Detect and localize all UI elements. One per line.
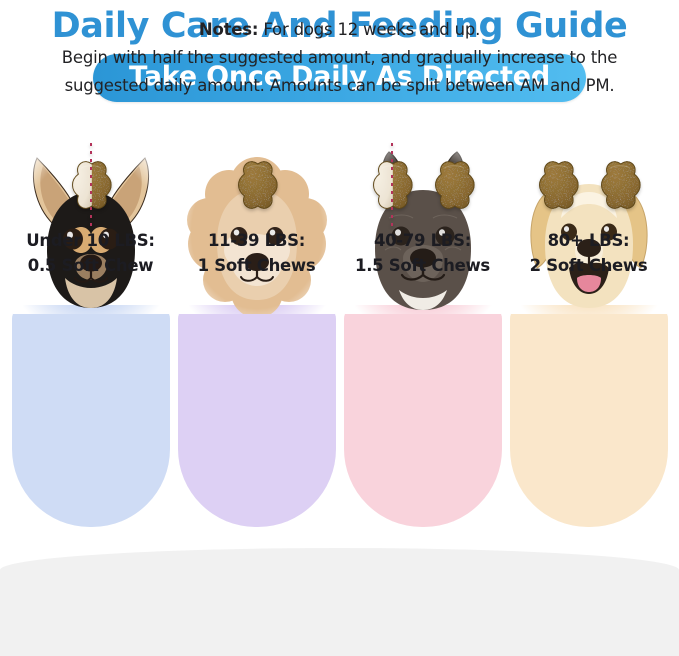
card-label-80-plus-lbs: 80+ LBS:2 Soft Chews	[530, 228, 648, 278]
dosage-card-under-10-lbs: Under 10 LBS:0.5 Soft Chew	[12, 132, 170, 527]
notes-text: Notes: For dogs 12 weeks and up. Begin w…	[0, 16, 679, 100]
notes-lead: Notes:	[199, 20, 258, 39]
weight-range-label: Under 10 LBS:	[26, 228, 154, 253]
notes-line-2: Begin with half the suggested amount, an…	[0, 44, 679, 72]
dose-amount-label: 0.5 Soft Chew	[26, 253, 154, 278]
card-label-11-39-lbs: 11-39 LBS:1 Soft Chews	[198, 228, 316, 278]
chew-illustration-40-79-lbs	[366, 154, 480, 216]
dosage-card-80-plus-lbs: 80+ LBS:2 Soft Chews	[510, 132, 668, 527]
chew-illustration-11-39-lbs	[231, 154, 283, 216]
card-content-40-79-lbs: 40-79 LBS:1.5 Soft Chews	[344, 132, 502, 527]
full-chew-icon	[231, 159, 283, 211]
chew-illustration-80-plus-lbs	[532, 154, 646, 216]
card-content-under-10-lbs: Under 10 LBS:0.5 Soft Chew	[12, 132, 170, 527]
card-label-under-10-lbs: Under 10 LBS:0.5 Soft Chew	[26, 228, 154, 278]
card-content-11-39-lbs: 11-39 LBS:1 Soft Chews	[178, 132, 336, 527]
card-label-40-79-lbs: 40-79 LBS:1.5 Soft Chews	[355, 228, 490, 278]
notes-line-3: suggested daily amount. Amounts can be s…	[0, 72, 679, 100]
dosage-card-11-39-lbs: 11-39 LBS:1 Soft Chews	[178, 132, 336, 527]
dosage-cards-row: Under 10 LBS:0.5 Soft Chew	[0, 132, 679, 532]
card-content-80-plus-lbs: 80+ LBS:2 Soft Chews	[510, 132, 668, 527]
dosage-card-40-79-lbs: 40-79 LBS:1.5 Soft Chews	[344, 132, 502, 527]
half-chew-icon	[366, 159, 418, 211]
dose-amount-label: 2 Soft Chews	[530, 253, 648, 278]
weight-range-label: 80+ LBS:	[530, 228, 648, 253]
notes-band	[0, 548, 679, 656]
weight-range-label: 11-39 LBS:	[198, 228, 316, 253]
chew-illustration-under-10-lbs	[65, 154, 117, 216]
dose-amount-label: 1.5 Soft Chews	[355, 253, 490, 278]
dose-amount-label: 1 Soft Chews	[198, 253, 316, 278]
weight-range-label: 40-79 LBS:	[355, 228, 490, 253]
notes-line-1-rest: For dogs 12 weeks and up.	[258, 20, 480, 39]
full-chew-icon	[594, 159, 646, 211]
chew-split-dotted-line	[391, 143, 393, 227]
full-chew-icon	[532, 159, 584, 211]
full-chew-icon	[428, 159, 480, 211]
notes-line-1: Notes: For dogs 12 weeks and up.	[0, 16, 679, 44]
half-chew-icon	[65, 159, 117, 211]
chew-split-dotted-line	[90, 143, 92, 227]
